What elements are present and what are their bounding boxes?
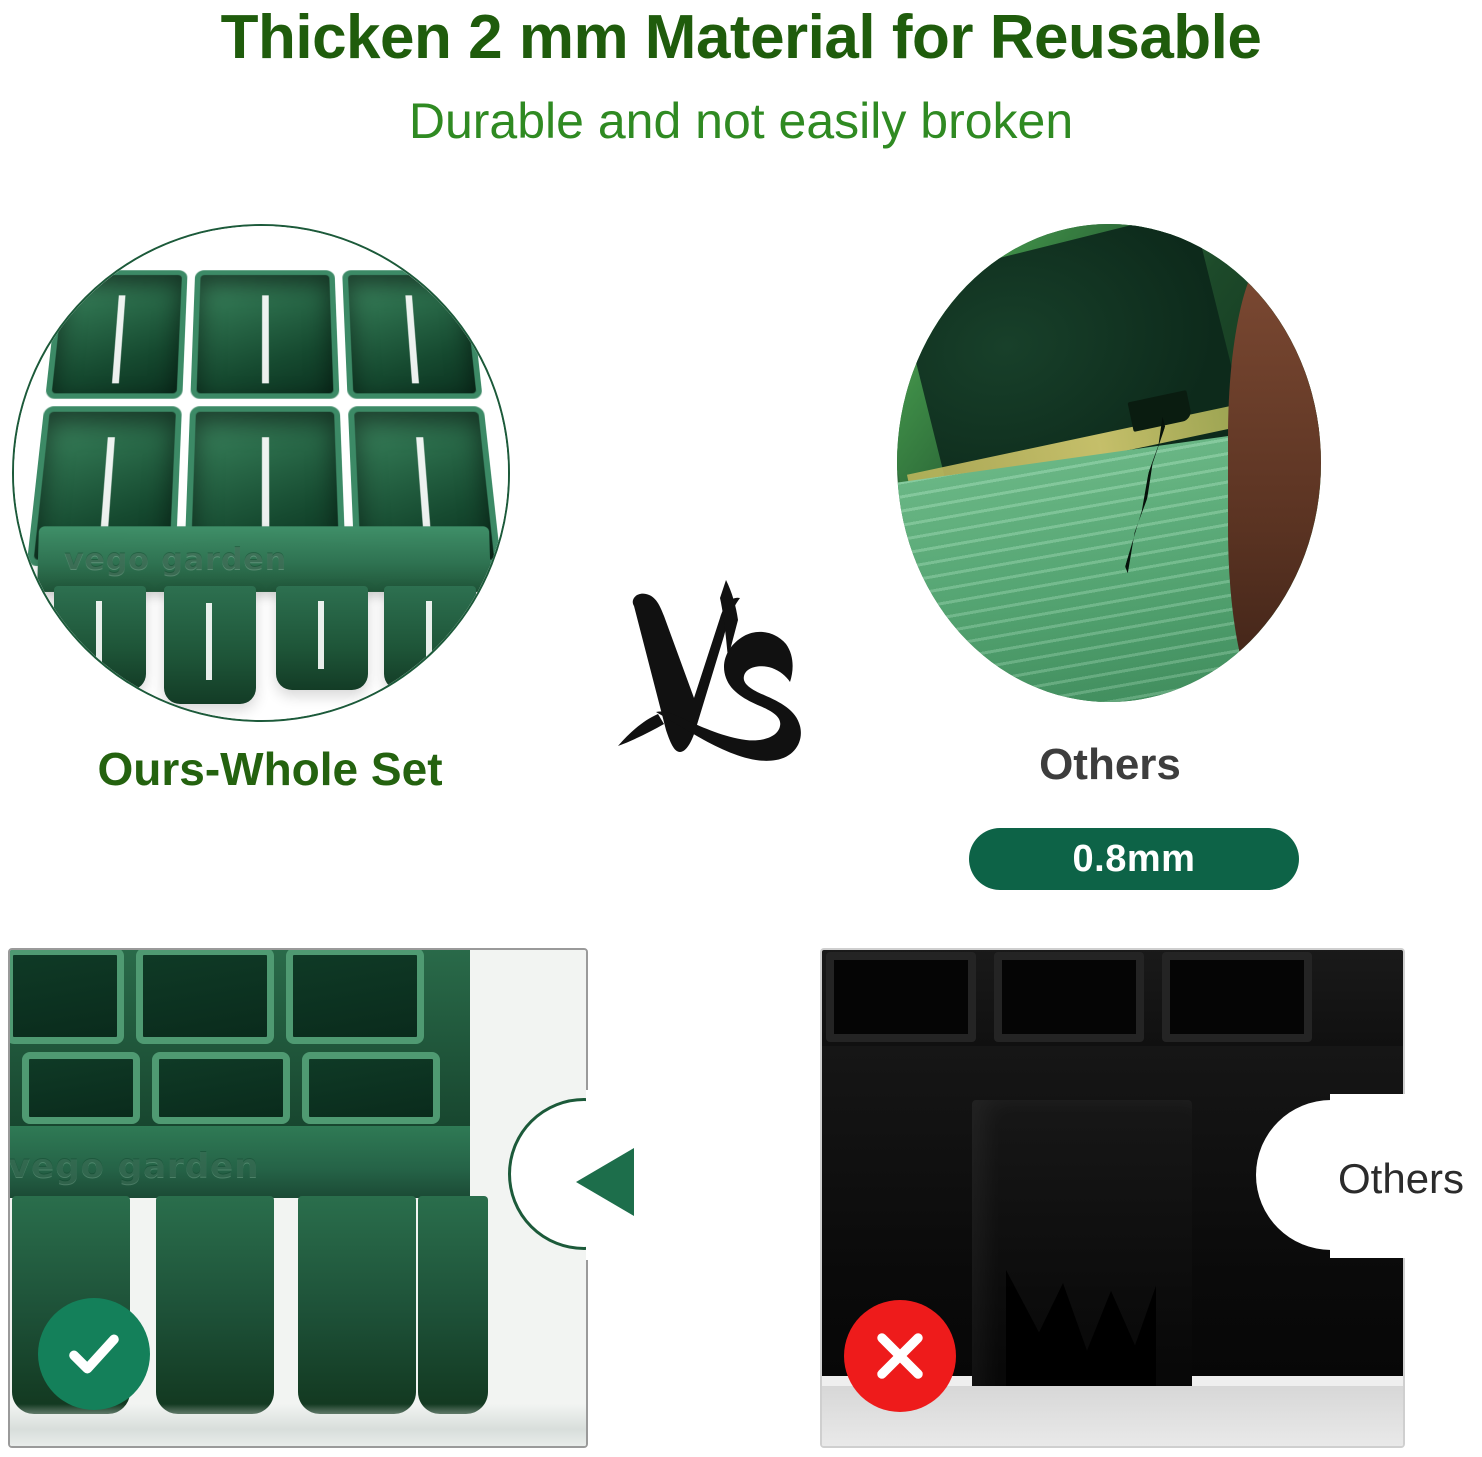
versus-icon xyxy=(600,562,820,832)
tray-branding-rim: vego garden xyxy=(8,1126,470,1198)
tray-cell xyxy=(8,948,124,1044)
tray-leg xyxy=(384,586,476,690)
ours-tray-illustration: vego garden xyxy=(14,226,508,720)
tray-cell xyxy=(994,952,1144,1042)
brand-emboss-text: vego garden xyxy=(8,1146,259,1186)
page-headline: Thicken 2 mm Material for Reusable xyxy=(0,2,1482,73)
tray-leg xyxy=(156,1196,274,1414)
background-hand xyxy=(1228,253,1321,702)
tray-leg xyxy=(54,586,146,690)
ours-detail-panel: vego garden xyxy=(8,948,588,1448)
ours-label: Ours-Whole Set xyxy=(0,742,540,796)
cracked-pot-illustration xyxy=(897,224,1321,702)
tray-cell xyxy=(302,1052,440,1124)
tray-leg xyxy=(276,586,368,690)
infographic-page: Thicken 2 mm Material for Reusable Durab… xyxy=(0,0,1482,1457)
tray-leg xyxy=(164,586,256,704)
tray-leg xyxy=(298,1196,416,1414)
tray-cell xyxy=(1162,952,1312,1042)
tray-legs xyxy=(54,586,474,694)
tray-cell xyxy=(342,270,483,399)
tray-cell xyxy=(136,948,274,1044)
top-comparison-row: vego garden xyxy=(0,222,1482,722)
pot-tear-damage xyxy=(1006,1270,1156,1400)
others-label: Others xyxy=(900,740,1320,790)
tray-cell xyxy=(22,1052,140,1124)
tray-cell xyxy=(286,948,424,1044)
tray-cell xyxy=(152,1052,290,1124)
thickness-badge: 0.8mm xyxy=(969,828,1299,890)
tray-top-grid xyxy=(8,948,470,1134)
cross-icon xyxy=(844,1300,956,1412)
tray-cell xyxy=(45,270,188,399)
tray-rim: vego garden xyxy=(37,526,491,592)
floor-shadow xyxy=(10,1404,586,1446)
others-notch-label: Others xyxy=(1338,1155,1464,1203)
check-icon xyxy=(38,1298,150,1410)
tray-cell xyxy=(826,952,976,1042)
damaged-pot-cell xyxy=(972,1100,1192,1430)
others-product-photo-circle xyxy=(897,224,1321,702)
tray-cell xyxy=(190,270,339,399)
ours-product-photo-circle: vego garden xyxy=(12,224,510,722)
arrow-left-icon xyxy=(576,1148,634,1216)
page-subheadline: Durable and not easily broken xyxy=(0,92,1482,150)
tray-leg xyxy=(418,1196,488,1414)
brand-emboss-text: vego garden xyxy=(64,542,288,577)
ours-tray-closeup-illustration: vego garden xyxy=(10,950,586,1446)
